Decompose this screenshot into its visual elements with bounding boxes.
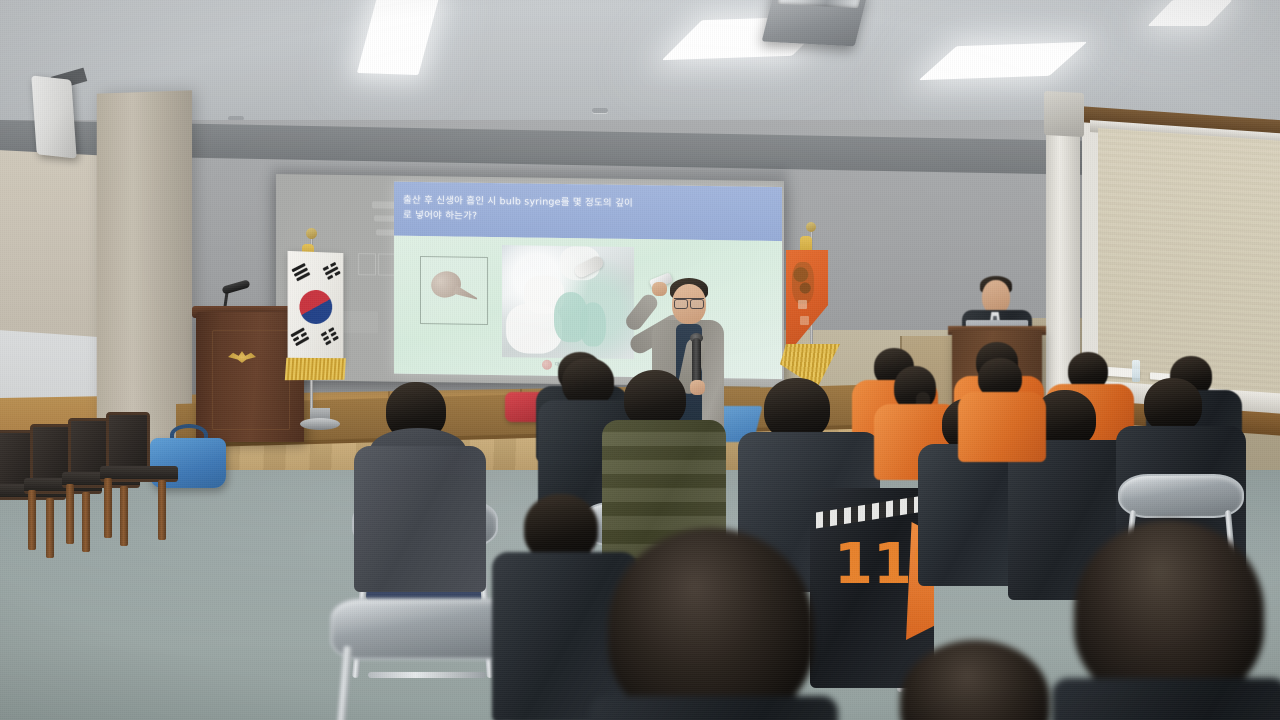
flagpole-finial (306, 228, 317, 239)
newborn-suction-photo (502, 245, 634, 359)
banner-character-2 (800, 316, 809, 325)
lecture-hall-photo: 출산 후 신생아 흡인 시 bulb syringe를 몇 정도의 깊이 로 넣… (0, 0, 1280, 720)
bulb-syringe-tip (453, 285, 479, 303)
wall-speaker (31, 75, 76, 158)
lecturer-mic-hand (690, 380, 705, 395)
trigram-gam (323, 262, 341, 280)
water-bottle[interactable] (1132, 360, 1140, 382)
trigram-gon (321, 327, 339, 345)
flag-stand-base (300, 418, 340, 430)
slide-title: 출산 후 신생아 흡인 시 bulb syringe를 몇 정도의 깊이 로 넣… (394, 194, 642, 227)
banner-embroidery (792, 262, 814, 304)
taeguk-symbol (294, 284, 338, 330)
projector-lens (777, 0, 862, 8)
air-conditioner-head (1044, 91, 1084, 137)
eyeglasses (674, 298, 704, 307)
lectern-front-panel (212, 330, 290, 430)
banner-character-1 (798, 300, 807, 309)
banner-finial (806, 222, 816, 232)
trigram-ri (290, 327, 309, 346)
uniform-number: 119 (834, 538, 878, 596)
ceiling-projector (762, 0, 869, 46)
flag-fringe-korea (285, 358, 346, 380)
taegukgi-national-flag (288, 251, 344, 365)
trigram-geon (291, 263, 310, 282)
bulb-syringe-bulb (428, 268, 463, 300)
slide-header-band: 출산 후 신생아 흡인 시 bulb syringe를 몇 정도의 깊이 로 넣… (394, 182, 782, 241)
lecturer-raised-hand (652, 282, 667, 296)
logo-mark (542, 359, 552, 369)
staff-head (982, 280, 1010, 314)
bulb-syringe-illustration (420, 256, 488, 325)
